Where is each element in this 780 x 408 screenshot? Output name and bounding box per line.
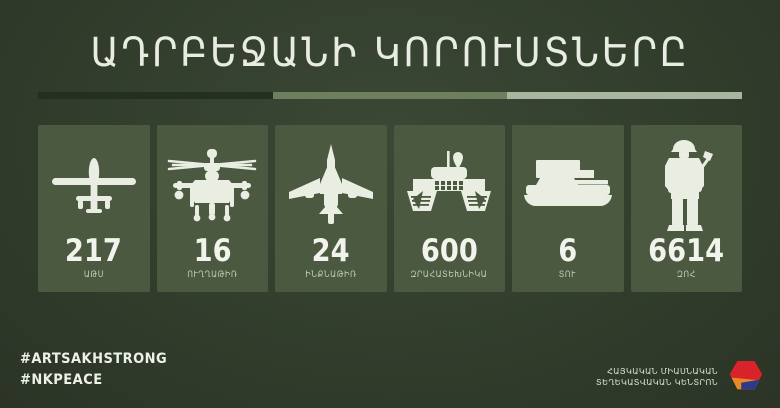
stat-value: 16 [193,235,231,267]
stat-value: 6614 [648,235,724,267]
tank-icon [512,135,624,235]
stat-label: ՈՒՂՂԱԹԻՌ [187,270,237,280]
divider-segment-mid [273,92,508,99]
stat-label: ԱԹՍ [84,270,104,280]
hashtag-block: #ARTSAKHSTRONG #NKPEACE [20,349,167,391]
hashtag-nkpeace: #NKPEACE [20,370,167,391]
stat-card-tank: 6 ՏՈՒ [512,125,624,292]
stat-card-armored-vehicle: 600 ԶՐԱՀԱՏԵԽՆԻԿԱ [394,125,506,292]
armored-vehicle-icon [394,135,506,235]
soldier-icon [631,135,743,235]
brand-line-1: ՀԱՅԿԱԿԱՆ ՄԻԱՍՆԱԿԱՆ [596,366,718,377]
drone-icon [38,135,150,235]
stat-label: ԻՆՔՆԱԹԻՌ [305,270,356,280]
stat-label: ՏՈՒ [559,270,576,280]
stat-card-helicopter: 16 ՈՒՂՂԱԹԻՌ [157,125,269,292]
jet-aircraft-icon [275,135,387,235]
stat-label: ԶՐԱՀԱՏԵԽՆԻԿԱ [411,270,488,280]
divider-bar [38,92,742,99]
stat-value: 24 [312,235,350,267]
stat-card-soldier: 6614 ԶՈՀ [631,125,743,292]
brand-block: ՀԱՅԿԱԿԱՆ ՄԻԱՍՆԱԿԱՆ ՏԵՂԵԿԱՏՎԱԿԱՆ ԿԵՆՏՐՈՆ [596,358,764,396]
brand-line-2: ՏԵՂԵԿԱՏՎԱԿԱՆ ԿԵՆՏՐՈՆ [596,377,718,388]
divider-segment-light [507,92,742,99]
stat-card-list: 217 ԱԹՍ [38,125,742,292]
infographic-poster: ԱԴՐԲԵՋԱՆԻ ԿՈՐՈՒՍՏՆԵՐԸ [0,0,780,408]
stat-value: 600 [421,235,478,267]
stat-value: 217 [65,235,122,267]
helicopter-icon [157,135,269,235]
stat-card-drone: 217 ԱԹՍ [38,125,150,292]
page-title: ԱԴՐԲԵՋԱՆԻ ԿՈՐՈՒՍՏՆԵՐԸ [31,30,749,76]
stat-label: ԶՈՀ [677,270,696,280]
stat-value: 6 [558,235,577,267]
hashtag-artsakhstrong: #ARTSAKHSTRONG [20,349,167,370]
hexagon-logo-icon [726,358,764,396]
title-area: ԱԴՐԲԵՋԱՆԻ ԿՈՐՈՒՍՏՆԵՐԸ [0,30,780,76]
brand-name: ՀԱՅԿԱԿԱՆ ՄԻԱՍՆԱԿԱՆ ՏԵՂԵԿԱՏՎԱԿԱՆ ԿԵՆՏՐՈՆ [596,366,718,388]
stat-card-jet: 24 ԻՆՔՆԱԹԻՌ [275,125,387,292]
divider-segment-dark [38,92,273,99]
